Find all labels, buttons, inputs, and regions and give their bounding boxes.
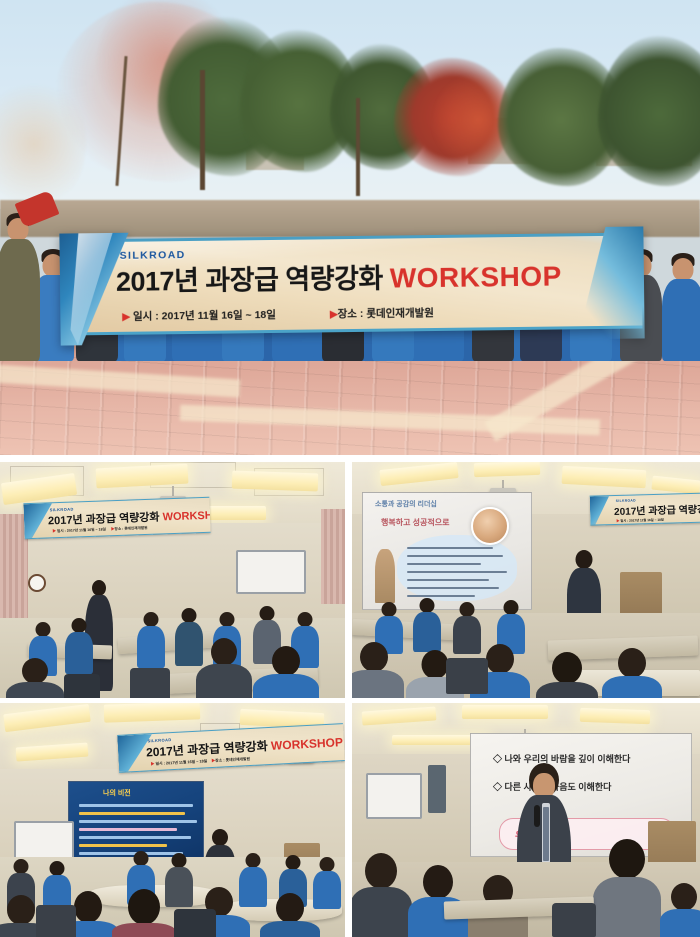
whiteboard bbox=[236, 550, 306, 594]
speaker-portrait bbox=[471, 507, 509, 545]
banner-title-korean: 2017년 과장급 역량강화 bbox=[116, 264, 383, 297]
chair bbox=[552, 903, 596, 937]
foreground-attendee bbox=[538, 652, 596, 698]
speaker-closeup-photo: ◇ 나와 우리의 바람을 깊이 이해한다 ◇ 다른 사람의 마음도 이해한다 우… bbox=[352, 703, 700, 937]
ceiling-light bbox=[232, 471, 319, 492]
presentation-slide-photo: SILKROAD 2017년 과장급 역량강화 WORKSHOP ▶ 일시 : … bbox=[352, 462, 700, 698]
slide-heading: 나의 비전 bbox=[103, 788, 131, 798]
date-marker-icon: ▶ bbox=[122, 312, 130, 323]
banner-title: 2017년 과장급 역량강화 WORKSHOP bbox=[116, 254, 586, 299]
wall-banner: SILKROAD 2017년 과장급 역량강화 WORKSHOP ▶ 일시 : … bbox=[23, 497, 210, 539]
bullet-marker-icon: ◇ bbox=[493, 754, 502, 764]
participant bbox=[664, 233, 700, 359]
red-flag bbox=[15, 190, 60, 228]
chair bbox=[36, 905, 76, 937]
projection-screen: 소통과 공감의 리더십 행복하고 성공적으로 bbox=[362, 492, 532, 610]
foreground-attendee bbox=[662, 883, 700, 937]
bullet-marker-icon: ◇ bbox=[493, 782, 502, 792]
venue-label: 장소 bbox=[338, 308, 357, 320]
outdoor-group-photo: SILKROAD 2017년 과장급 역량강화 WORKSHOP ▶ 일시 : … bbox=[0, 0, 700, 455]
classroom-lecture-photo: SILKROAD 2017년 과장급 역량강화 WORKSHOP ▶ 일시 : … bbox=[0, 462, 345, 698]
foreground-attendee bbox=[596, 839, 658, 937]
group-discussion-photo: SILKROAD 2017년 과장급 역량강화 WORKSHOP ▶ 일시 : … bbox=[0, 703, 345, 937]
slide-subheading: 행복하고 성공적으로 bbox=[381, 517, 449, 528]
banner-subtitle: ▶ 일시 : 2017년 11월 16일 ~ 18일 bbox=[616, 517, 664, 523]
participant bbox=[0, 209, 38, 359]
pavement-stripe bbox=[0, 362, 240, 397]
slide-heading: 소통과 공감의 리더십 bbox=[375, 499, 437, 509]
window-curtain bbox=[321, 509, 345, 603]
chair bbox=[446, 658, 488, 694]
chair bbox=[174, 909, 216, 937]
seated-attendee bbox=[498, 600, 524, 650]
foreground-attendee bbox=[198, 638, 250, 698]
ceiling-light bbox=[580, 708, 650, 724]
foreground-attendee bbox=[114, 889, 174, 937]
seated-attendee bbox=[66, 618, 92, 670]
ceiling-light bbox=[474, 462, 540, 477]
microphone-icon bbox=[534, 805, 540, 827]
seated-attendee bbox=[138, 612, 164, 664]
chair bbox=[64, 674, 100, 698]
foreground-attendee bbox=[604, 648, 660, 698]
foreground-attendee bbox=[352, 853, 410, 937]
foreground-attendee bbox=[8, 658, 62, 698]
ceiling-light bbox=[104, 703, 201, 723]
workshop-banner: SILKROAD 2017년 과장급 역량강화 WORKSHOP ▶ 일시 : … bbox=[63, 232, 642, 335]
venue-value: 롯데인재개발원 bbox=[366, 307, 434, 320]
wall-clock bbox=[28, 574, 46, 592]
chair bbox=[130, 668, 170, 698]
speaker-necktie bbox=[543, 807, 549, 861]
photo-seam-vertical bbox=[345, 462, 352, 937]
foreground-attendee bbox=[352, 642, 402, 698]
wall-panel bbox=[428, 765, 446, 813]
seated-attendee bbox=[454, 602, 480, 650]
foreground-attendee bbox=[262, 893, 318, 937]
banner-title-english: WORKSHOP bbox=[390, 260, 562, 293]
speech-bubble bbox=[397, 535, 517, 601]
seated-attendee bbox=[414, 598, 440, 648]
photo-seam-horizontal bbox=[0, 455, 700, 462]
date-value: 2017년 11월 16일 ~ 18일 bbox=[162, 309, 276, 322]
date-label: 일시 bbox=[133, 310, 152, 322]
photo-collage: SILKROAD 2017년 과장급 역량강화 WORKSHOP ▶ 일시 : … bbox=[0, 0, 700, 937]
foreground-attendee bbox=[256, 646, 316, 698]
whiteboard bbox=[366, 773, 422, 819]
slide-figure bbox=[375, 549, 395, 603]
wall-banner: SILKROAD 2017년 과장급 역량강화 WORKSHOP ▶ 일시 : … bbox=[590, 492, 700, 525]
ceiling-light bbox=[462, 705, 548, 719]
